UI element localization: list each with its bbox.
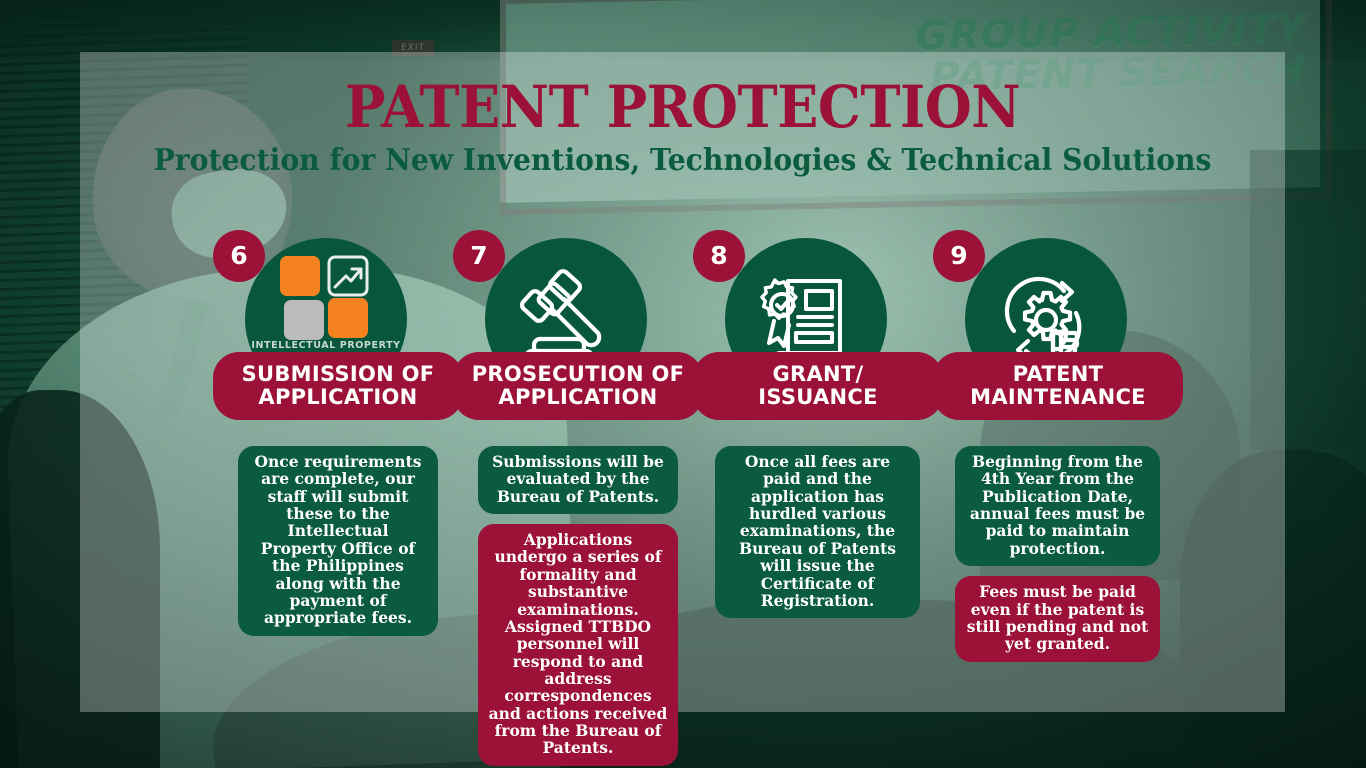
logo-square-orange-top: [280, 256, 320, 296]
step-note: Submissions will be evaluated by the Bur…: [478, 446, 678, 514]
step-title: PROSECUTION OF APPLICATION: [453, 352, 703, 420]
heading-block: PATENT PROTECTION Protection for New Inv…: [80, 78, 1285, 176]
step-note: Once requirements are complete, our staf…: [238, 446, 438, 636]
step-note: Beginning from the 4th Year from the Pub…: [955, 446, 1160, 566]
page-title: PATENT PROTECTION: [122, 78, 1243, 136]
slide-canvas: GROUP ACTIVITY PATENT SEARCH EXIT PATENT…: [0, 0, 1366, 768]
step-note: Fees must be paid even if the patent is …: [955, 576, 1160, 661]
page-subtitle: Protection for New Inventions, Technolog…: [116, 146, 1249, 176]
step-note: Applications undergo a series of formali…: [478, 524, 678, 766]
logo-square-arrow-top: [326, 254, 366, 294]
step-notes: Beginning from the 4th Year from the Pub…: [955, 446, 1160, 672]
step-note: Once all fees are paid and the applicati…: [715, 446, 920, 618]
step-title: SUBMISSION OF APPLICATION: [213, 352, 463, 420]
logo-square-gray: [284, 300, 324, 340]
growth-arrow-icon: [326, 254, 370, 298]
step-number-badge: 9: [933, 230, 985, 282]
step-title: GRANT/ ISSUANCE: [693, 352, 943, 420]
step-notes: Submissions will be evaluated by the Bur…: [478, 446, 678, 768]
step-title: PATENT MAINTENANCE: [933, 352, 1183, 420]
step-notes: Once all fees are paid and the applicati…: [715, 446, 920, 628]
step-notes: Once requirements are complete, our staf…: [238, 446, 438, 646]
ipophl-logo-icon: [280, 256, 372, 328]
step-number-badge: 7: [453, 230, 505, 282]
step-number-badge: 6: [213, 230, 265, 282]
logo-square-orange-bottom: [328, 298, 368, 338]
steps-row: INTELLECTUAL PROPERTY OFFICE OF THE PHIL…: [80, 230, 1285, 680]
step-number-badge: 8: [693, 230, 745, 282]
